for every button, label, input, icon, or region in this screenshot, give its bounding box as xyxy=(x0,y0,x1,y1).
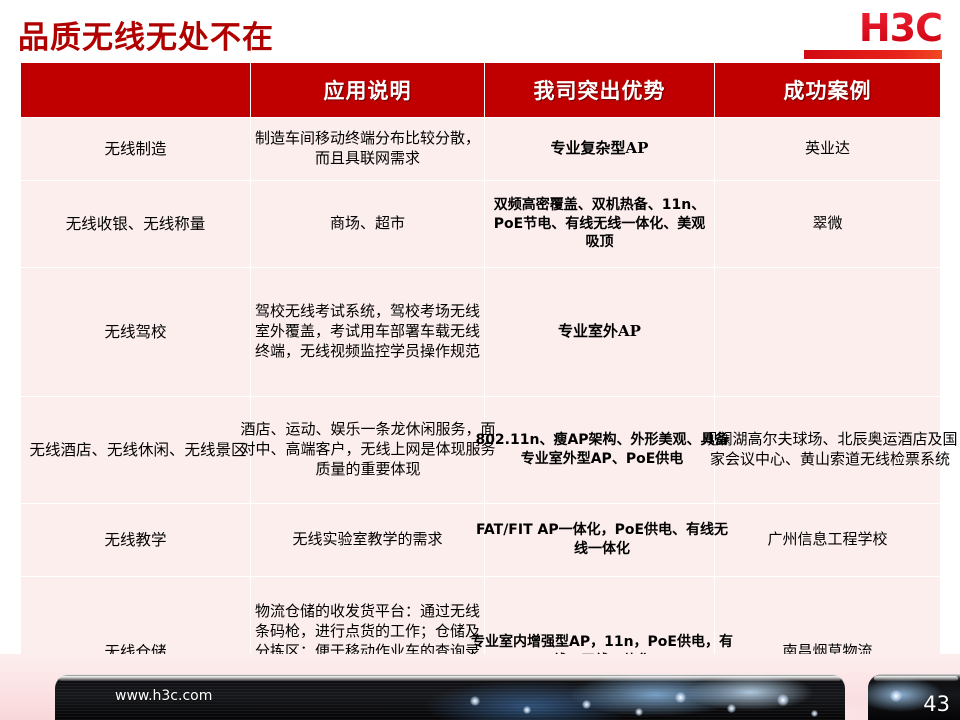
table-row: 无线收银、无线称量 商场、超市 双频高密覆盖、双机热备、11n、PoE节电、有线… xyxy=(21,181,941,268)
table-row: 无线教学 无线实验室教学的需求 FAT/FIT AP一体化，PoE供电、有线无线… xyxy=(21,504,941,577)
page-box-light-dot xyxy=(890,690,902,702)
footer-light-dot xyxy=(582,700,591,709)
footer-light-dot xyxy=(811,710,818,717)
footer-light-dot xyxy=(777,694,789,706)
footer-light-dot xyxy=(727,704,736,713)
logo-underline-bar xyxy=(804,50,942,59)
column-header-advantage: 我司突出优势 xyxy=(485,63,715,118)
cell-case: 观澜湖高尔夫球场、北辰奥运酒店及国家会议中心、黄山索道无线检票系统 xyxy=(715,397,941,504)
cell-description-text: 酒店、运动、娱乐一条龙休闲服务，面对中、高端客户，无线上网是体现服务质量的重要体… xyxy=(237,420,499,480)
cell-advantage-text: 802.11n、瘦AP架构、外形美观、具备专业室外型AP、PoE供电 xyxy=(471,431,733,469)
cell-scenario: 无线制造 xyxy=(21,118,251,181)
cell-advantage: FAT/FIT AP一体化，PoE供电、有线无线一体化 xyxy=(485,504,715,577)
footer-website-url[interactable]: www.h3c.com xyxy=(115,688,212,704)
table-row: 无线制造 制造车间移动终端分布比较分散，而且具联网需求 专业复杂型AP 英业达 xyxy=(21,118,941,181)
cell-advantage: 双频高密覆盖、双机热备、11n、PoE节电、有线无线一体化、美观吸顶 xyxy=(485,181,715,268)
cell-case xyxy=(715,268,941,397)
cell-scenario: 无线收银、无线称量 xyxy=(21,181,251,268)
slide-canvas: 品质无线无处不在 H3C 应用说明 我司突出优势 成功案例 无线制造 制造车间移… xyxy=(0,0,960,720)
footer-bar: www.h3c.com xyxy=(55,674,845,720)
page-number: 43 xyxy=(923,692,950,716)
column-header-scenario xyxy=(21,63,251,118)
cell-advantage-text: FAT/FIT AP一体化，PoE供电、有线无线一体化 xyxy=(471,521,733,559)
cell-description: 无线实验室教学的需求 xyxy=(251,504,485,577)
cell-advantage: 802.11n、瘦AP架构、外形美观、具备专业室外型AP、PoE供电 xyxy=(485,397,715,504)
wireless-scenarios-table: 应用说明 我司突出优势 成功案例 无线制造 制造车间移动终端分布比较分散，而且具… xyxy=(20,62,941,720)
cell-scenario: 无线驾校 xyxy=(21,268,251,397)
page-box-top-sheen xyxy=(874,676,958,681)
cell-description: 酒店、运动、娱乐一条龙休闲服务，面对中、高端客户，无线上网是体现服务质量的重要体… xyxy=(251,397,485,504)
table-body: 无线制造 制造车间移动终端分布比较分散，而且具联网需求 专业复杂型AP 英业达 … xyxy=(21,118,941,720)
footer-light-dot xyxy=(470,696,480,706)
cell-scenario: 无线酒店、无线休闲、无线景区 xyxy=(21,397,251,504)
h3c-logo: H3C xyxy=(802,8,942,62)
column-header-description: 应用说明 xyxy=(251,63,485,118)
logo-wordmark: H3C xyxy=(802,8,942,48)
cell-case-text: 观澜湖高尔夫球场、北辰奥运酒店及国家会议中心、黄山索道无线检票系统 xyxy=(701,430,959,470)
page-title: 品质无线无处不在 xyxy=(18,12,274,57)
footer-top-sheen xyxy=(59,676,841,681)
cell-advantage: 专业复杂型AP xyxy=(485,118,715,181)
cell-scenario: 无线教学 xyxy=(21,504,251,577)
table-header-row: 应用说明 我司突出优势 成功案例 xyxy=(21,63,941,118)
cell-case: 广州信息工程学校 xyxy=(715,504,941,577)
cell-scenario-text: 无线酒店、无线休闲、无线景区 xyxy=(3,440,273,461)
footer-light-dot xyxy=(635,708,643,716)
table-row: 无线驾校 驾校无线考试系统，驾校考场无线室外覆盖，考试用车部署车载无线终端，无线… xyxy=(21,268,941,397)
table-row: 无线酒店、无线休闲、无线景区 酒店、运动、娱乐一条龙休闲服务，面对中、高端客户，… xyxy=(21,397,941,504)
table-header: 应用说明 我司突出优势 成功案例 xyxy=(21,63,941,118)
page-number-box: 43 xyxy=(868,674,960,720)
cell-case: 英业达 xyxy=(715,118,941,181)
cell-advantage: 专业室外AP xyxy=(485,268,715,397)
footer-light-dot xyxy=(523,706,531,714)
column-header-case: 成功案例 xyxy=(715,63,941,118)
footer-light-dot xyxy=(675,692,686,703)
cell-description: 商场、超市 xyxy=(251,181,485,268)
cell-description: 制造车间移动终端分布比较分散，而且具联网需求 xyxy=(251,118,485,181)
cell-description: 驾校无线考试系统，驾校考场无线室外覆盖，考试用车部署车载无线终端，无线视频监控学… xyxy=(251,268,485,397)
cell-case: 翠微 xyxy=(715,181,941,268)
